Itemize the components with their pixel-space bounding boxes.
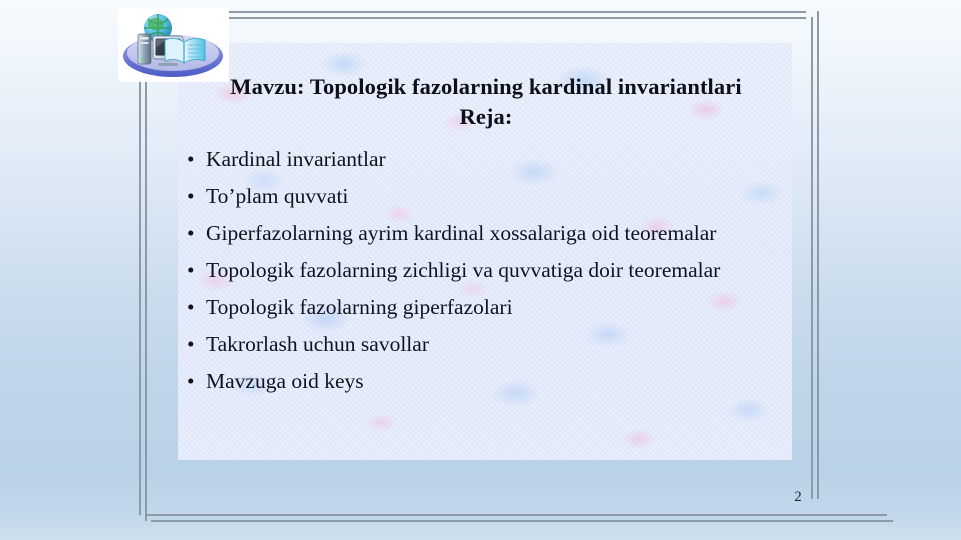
logo-artwork <box>118 8 229 82</box>
list-item-label: Takrorlash uchun savollar <box>206 332 429 356</box>
frame-left-line-inner <box>145 44 147 521</box>
bullet-icon: • <box>187 293 195 321</box>
page-title: Mavzu: Topologik fazolarning kardinal in… <box>186 72 786 102</box>
page-number: 2 <box>788 489 808 506</box>
open-book-icon-left <box>165 38 184 63</box>
bullet-icon: • <box>187 145 195 173</box>
frame-bottom-line-outer <box>151 520 893 522</box>
slide-canvas: Mavzu: Topologik fazolarning kardinal in… <box>0 0 961 540</box>
bullet-icon: • <box>187 256 195 284</box>
tower-drive-slot-2 <box>141 42 149 44</box>
frame-left-line-outer <box>139 38 141 515</box>
list-item: • Topologik fazolarning zichligi va quvv… <box>182 256 782 284</box>
list-item-label: Mavzuga oid keys <box>206 369 364 393</box>
list-item: • Topologik fazolarning giperfazolari <box>182 293 782 321</box>
bullet-icon: • <box>187 367 195 395</box>
list-item: • Kardinal invariantlar <box>182 145 782 173</box>
frame-top-line-outer <box>226 11 806 13</box>
frame-top-line-inner <box>226 17 806 19</box>
bullet-icon: • <box>187 219 195 247</box>
agenda-list: • Kardinal invariantlar • To’plam quvvat… <box>182 145 782 404</box>
list-item-label: Kardinal invariantlar <box>206 147 386 171</box>
frame-right-line-inner <box>811 17 813 499</box>
frame-right-line-outer <box>817 11 819 499</box>
tower-drive-slot <box>141 37 149 40</box>
list-item: • Mavzuga oid keys <box>182 367 782 395</box>
title-block: Mavzu: Topologik fazolarning kardinal in… <box>186 72 786 132</box>
education-technology-logo <box>118 8 229 82</box>
list-item: • To’plam quvvati <box>182 182 782 210</box>
list-item-label: Topologik fazolarning giperfazolari <box>206 295 513 319</box>
monitor-stand <box>158 63 178 66</box>
list-item-label: Giperfazolarning ayrim kardinal xossalar… <box>206 221 716 245</box>
open-book-icon-right <box>184 38 205 63</box>
page-subtitle: Reja: <box>186 102 786 132</box>
list-item: • Takrorlash uchun savollar <box>182 330 782 358</box>
list-item: • Giperfazolarning ayrim kardinal xossal… <box>182 219 782 247</box>
frame-bottom-line-inner <box>145 514 887 516</box>
list-item-label: Topologik fazolarning zichligi va quvvat… <box>206 258 720 282</box>
tower-power-led <box>141 58 144 61</box>
bullet-icon: • <box>187 330 195 358</box>
list-item-label: To’plam quvvati <box>206 184 348 208</box>
bullet-icon: • <box>187 182 195 210</box>
